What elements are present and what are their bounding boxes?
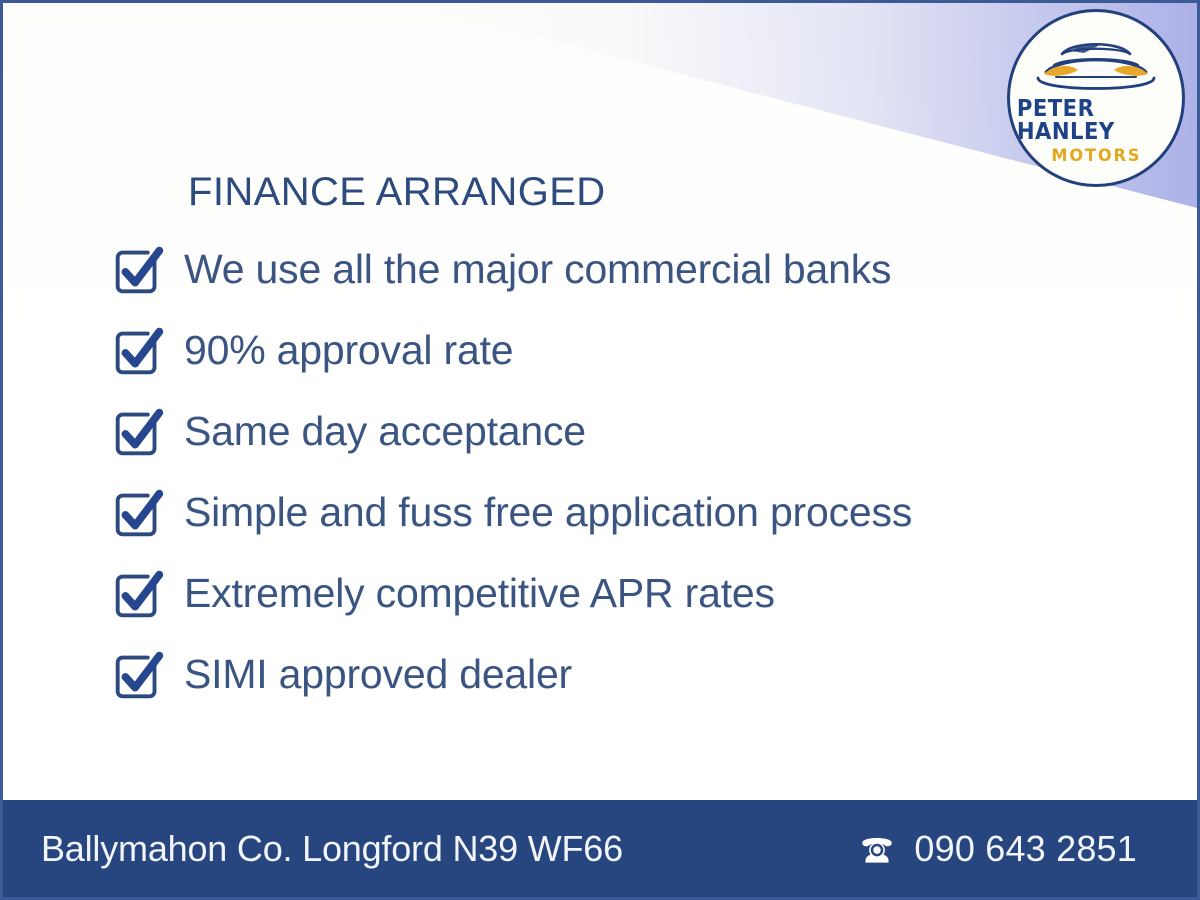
logo-brand-sub: MOTORS [1051, 148, 1141, 165]
footer-contact-bar: Ballymahon Co. Longford N39 WF66 090 643… [3, 800, 1197, 897]
feature-label: We use all the major commercial banks [184, 249, 891, 290]
footer-address: Ballymahon Co. Longford N39 WF66 [41, 828, 623, 870]
checkbox-checked-icon [108, 239, 170, 301]
feature-label: SIMI approved dealer [184, 654, 572, 695]
list-item: SIMI approved dealer [108, 634, 1128, 715]
feature-label: Same day acceptance [184, 411, 586, 452]
checkbox-checked-icon [108, 563, 170, 625]
checkbox-checked-icon [108, 644, 170, 706]
checkbox-checked-icon [108, 401, 170, 463]
footer-phone-number: 090 643 2851 [914, 828, 1137, 870]
feature-label: Extremely competitive APR rates [184, 573, 775, 614]
checkbox-checked-icon [108, 320, 170, 382]
list-item: Extremely competitive APR rates [108, 553, 1128, 634]
brand-logo-badge: PETER HANLEY MOTORS [1007, 9, 1185, 187]
logo-brand-name: PETER HANLEY [1017, 98, 1175, 144]
list-item: We use all the major commercial banks [108, 229, 1128, 310]
poster-canvas: PETER HANLEY MOTORS FINANCE ARRANGED We … [0, 0, 1200, 900]
feature-list: We use all the major commercial banks 90… [108, 229, 1128, 715]
footer-phone-group[interactable]: 090 643 2851 [856, 828, 1159, 870]
list-item: Simple and fuss free application process [108, 472, 1128, 553]
car-front-icon [1026, 28, 1166, 100]
list-item: 90% approval rate [108, 310, 1128, 391]
page-title: FINANCE ARRANGED [188, 171, 1128, 213]
telephone-icon [856, 828, 898, 870]
feature-label: Simple and fuss free application process [184, 492, 912, 533]
checkbox-checked-icon [108, 482, 170, 544]
feature-label: 90% approval rate [184, 330, 513, 371]
main-content: FINANCE ARRANGED We use all the major co… [108, 171, 1128, 715]
list-item: Same day acceptance [108, 391, 1128, 472]
